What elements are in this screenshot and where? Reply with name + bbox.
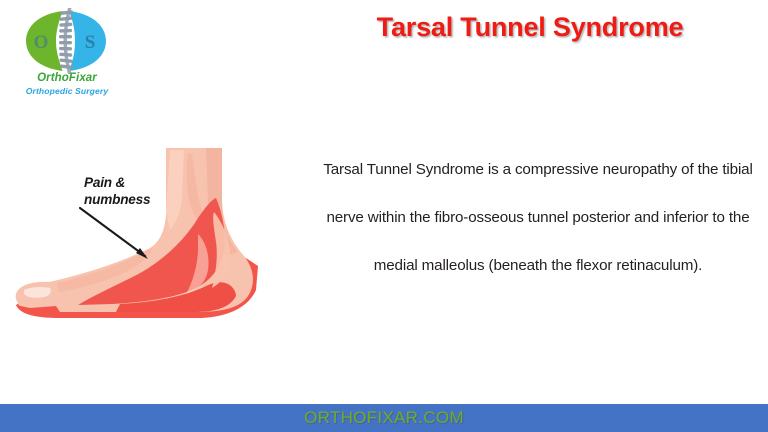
- footer-bar: ORTHOFIXAR.COM: [0, 404, 768, 432]
- pain-callout-label: Pain & numbness: [84, 174, 176, 208]
- description-text: Tarsal Tunnel Syndrome is a compressive …: [312, 146, 764, 290]
- infographic-page: O S OrthoFixar Orthopedic Surgery Tarsal…: [0, 0, 768, 432]
- brand-tagline: Orthopedic Surgery: [8, 86, 126, 96]
- toenail: [24, 287, 51, 298]
- pain-callout-arrow: [80, 208, 148, 259]
- logo-letter-o: O: [34, 32, 49, 53]
- orthofixar-spine-leaf-logo-icon: O S: [16, 8, 116, 74]
- brand-logo: O S OrthoFixar Orthopedic Surgery: [8, 4, 126, 106]
- pain-callout-line-1: Pain &: [84, 174, 176, 191]
- page-title: Tarsal Tunnel Syndrome: [300, 12, 760, 43]
- logo-letter-s: S: [85, 32, 96, 53]
- brand-name: OrthoFixar: [8, 72, 126, 85]
- foot-anatomy-illustration: [0, 138, 310, 338]
- pain-callout-line-2: numbness: [84, 191, 176, 208]
- footer-url: ORTHOFIXAR.COM: [304, 408, 464, 428]
